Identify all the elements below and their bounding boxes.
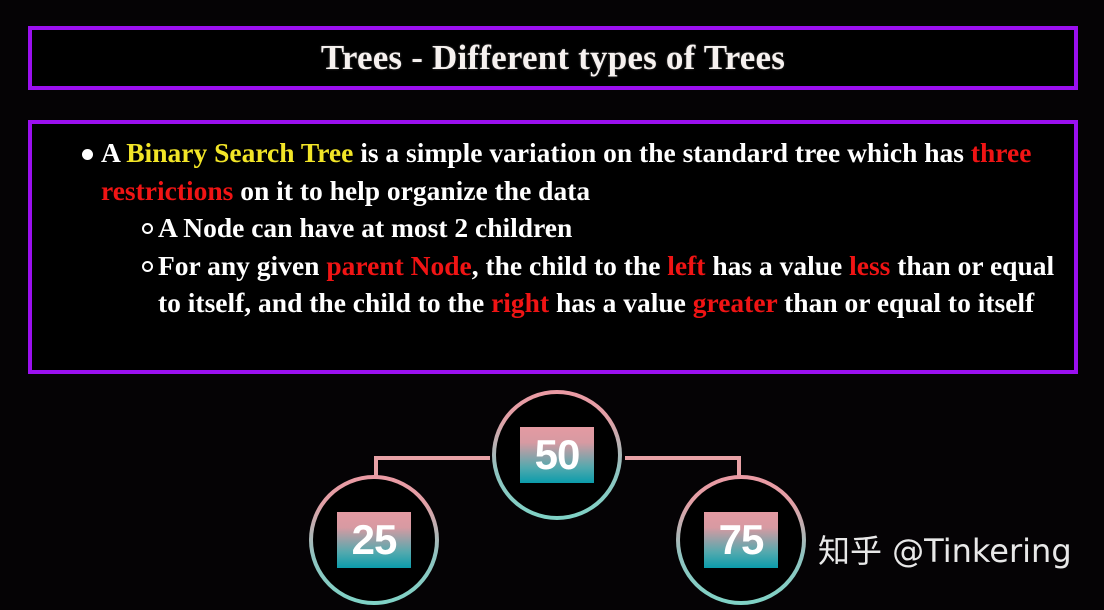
node-value-label: 75 — [719, 519, 764, 561]
text-run: on it to help organize the data — [233, 175, 590, 206]
text-run: has a value — [549, 287, 693, 318]
text-run-highlight-parent-node: parent Node — [326, 250, 471, 281]
page-title: Trees - Different types of Trees — [321, 38, 785, 78]
text-run-highlight-greater: greater — [693, 287, 778, 318]
node-value-label: 25 — [352, 519, 397, 561]
tree-node-root[interactable]: 50 — [492, 390, 622, 520]
list-item: For any given parent Node, the child to … — [32, 247, 1074, 322]
watermark: 知乎 @Tinkering — [818, 531, 1072, 571]
bullet-circle-icon — [142, 223, 153, 234]
text-run: is a simple variation on the standard tr… — [353, 137, 971, 168]
text-run: than or equal to itself — [777, 287, 1034, 318]
text-run: A Node can have at most 2 children — [158, 212, 572, 243]
tree-node-left-child[interactable]: 25 — [309, 475, 439, 605]
text-run-highlight-left: left — [667, 250, 705, 281]
tree-node-right-child[interactable]: 75 — [676, 475, 806, 605]
list-item-text: For any given parent Node, the child to … — [158, 247, 1064, 322]
list-item-text: A Node can have at most 2 children — [158, 209, 1064, 247]
list-item: A Binary Search Tree is a simple variati… — [32, 134, 1074, 209]
text-run: , the child to the — [472, 250, 668, 281]
text-run-highlight-less: less — [849, 250, 890, 281]
text-run-highlight-binary-search-tree: Binary Search Tree — [126, 137, 353, 168]
bullet-list: A Binary Search Tree is a simple variati… — [32, 134, 1074, 322]
slide-canvas: Trees - Different types of Trees A Binar… — [0, 0, 1104, 610]
node-value-label: 50 — [535, 434, 580, 476]
content-box: A Binary Search Tree is a simple variati… — [28, 120, 1078, 374]
bullet-circle-icon — [142, 261, 153, 272]
text-run-highlight-right: right — [491, 287, 549, 318]
title-box: Trees - Different types of Trees — [28, 26, 1078, 90]
text-run: has a value — [705, 250, 849, 281]
binary-search-tree-diagram: 50 25 75 — [0, 374, 1104, 610]
node-value-box: 50 — [520, 427, 594, 483]
node-value-box: 75 — [704, 512, 778, 568]
node-value-box: 25 — [337, 512, 411, 568]
list-item-text: A Binary Search Tree is a simple variati… — [101, 134, 1064, 209]
text-run: A — [101, 137, 126, 168]
text-run: For any given — [158, 250, 326, 281]
list-item: A Node can have at most 2 children — [32, 209, 1074, 247]
bullet-disc-icon — [82, 149, 93, 160]
